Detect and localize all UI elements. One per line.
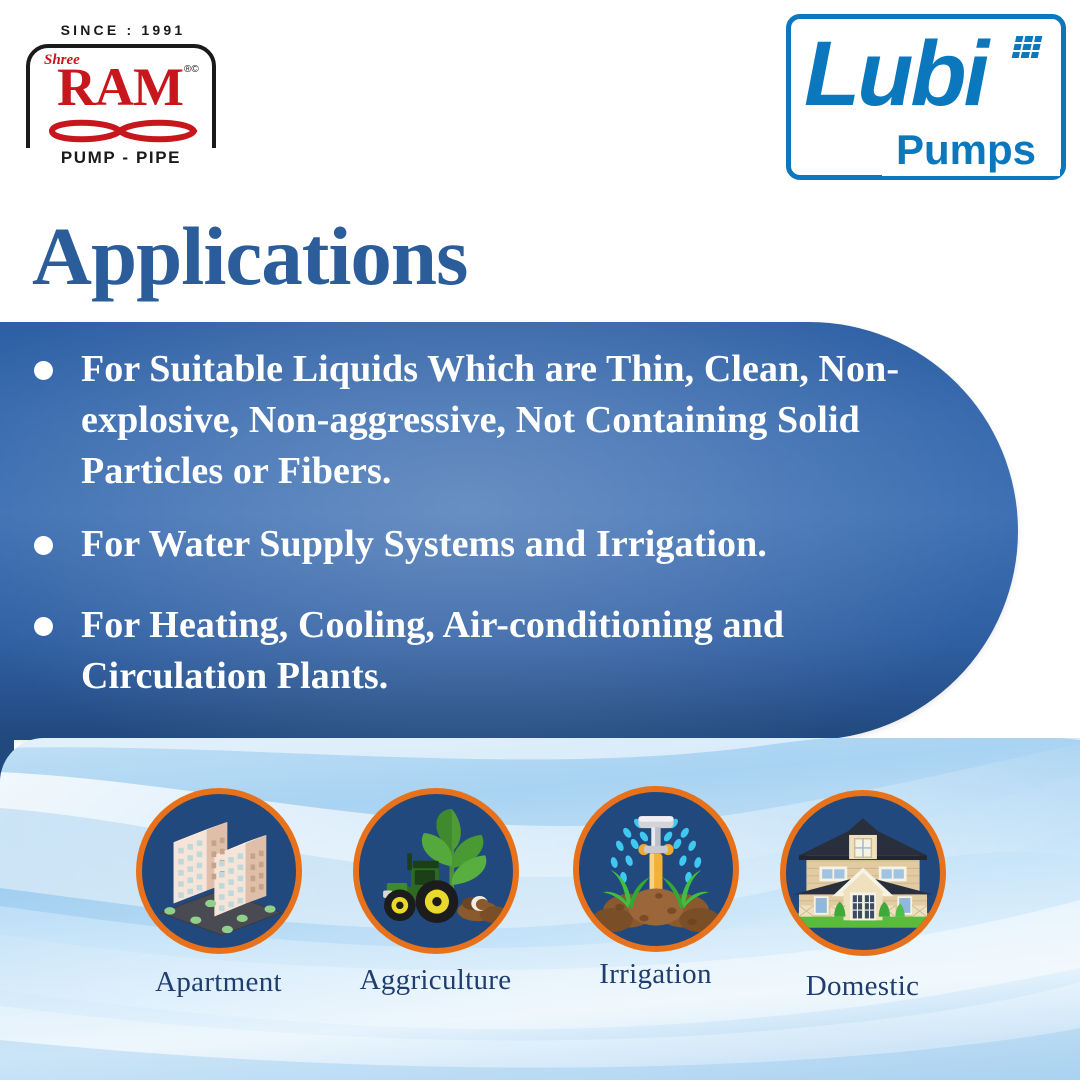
application-label: Aggriculture — [348, 964, 523, 997]
lubi-wordmark: Lubi — [804, 24, 986, 124]
application-label: Irrigation — [568, 958, 743, 991]
list-item: For Water Supply Systems and Irrigation. — [34, 519, 964, 570]
application-item-irrigation[interactable]: Irrigation — [568, 786, 743, 991]
lubi-grid-dot-icon — [1012, 36, 1043, 58]
lubi-subtitle: Pumps — [896, 126, 1036, 174]
poster-canvas: SINCE : 1991 Shree RAM ®© PUMP - PIPE Lu… — [0, 0, 1080, 1080]
bullet-text: For Water Supply Systems and Irrigation. — [81, 519, 767, 570]
application-label: Apartment — [131, 966, 306, 999]
list-item: For Suitable Liquids Which are Thin, Cle… — [34, 344, 964, 497]
bullet-text: For Suitable Liquids Which are Thin, Cle… — [81, 344, 946, 497]
pump-pipe-text: PUMP - PIPE — [26, 148, 216, 168]
since-text: SINCE : 1991 — [18, 22, 228, 38]
application-label: Domestic — [775, 970, 950, 1003]
ram-wordmark: RAM — [40, 60, 200, 114]
bullet-dot-icon — [34, 617, 53, 636]
bullet-text: For Heating, Cooling, Air-conditioning a… — [81, 600, 946, 702]
trademark-text: ®© — [184, 64, 199, 75]
application-item-aggriculture[interactable]: Aggriculture — [348, 788, 523, 997]
applications-bullet-list: For Suitable Liquids Which are Thin, Cle… — [34, 344, 964, 724]
bullet-dot-icon — [34, 361, 53, 380]
application-item-domestic[interactable]: Domestic — [775, 790, 950, 1003]
shree-ram-logo: SINCE : 1991 Shree RAM ®© PUMP - PIPE — [18, 22, 228, 167]
bullet-dot-icon — [34, 536, 53, 555]
sprinkler-icon — [573, 786, 739, 952]
list-item: For Heating, Cooling, Air-conditioning a… — [34, 600, 964, 702]
page-title: Applications — [32, 208, 467, 304]
lubi-pumps-logo: Lubi Pumps — [786, 14, 1066, 180]
apartment-buildings-icon — [136, 788, 302, 954]
house-icon — [780, 790, 946, 956]
tractor-plant-icon — [353, 788, 519, 954]
ram-swirl-icon — [48, 118, 198, 144]
application-item-apartment[interactable]: Apartment — [131, 788, 306, 999]
